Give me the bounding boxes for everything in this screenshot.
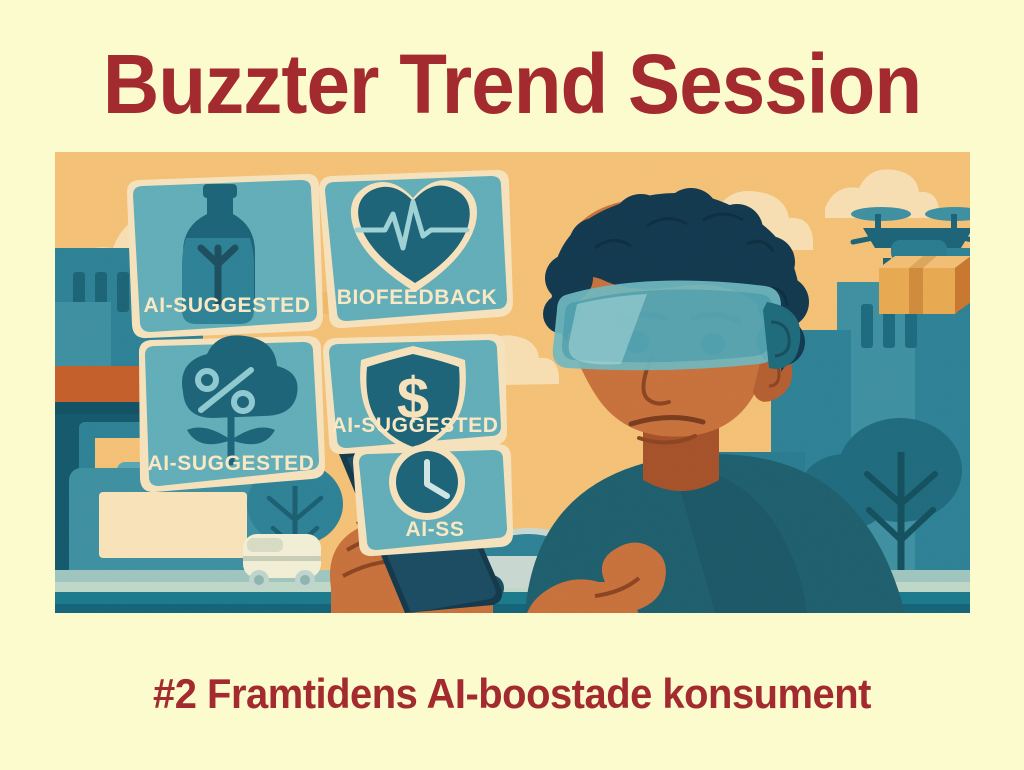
slide: Buzzter Trend Session bbox=[0, 0, 1024, 770]
hero-illustration: AI-SUGGESTED BIOFEEDBACK bbox=[55, 152, 970, 613]
page-title: Buzzter Trend Session bbox=[36, 36, 988, 132]
page-subtitle: #2 Framtidens AI-boostade konsument bbox=[26, 668, 999, 720]
